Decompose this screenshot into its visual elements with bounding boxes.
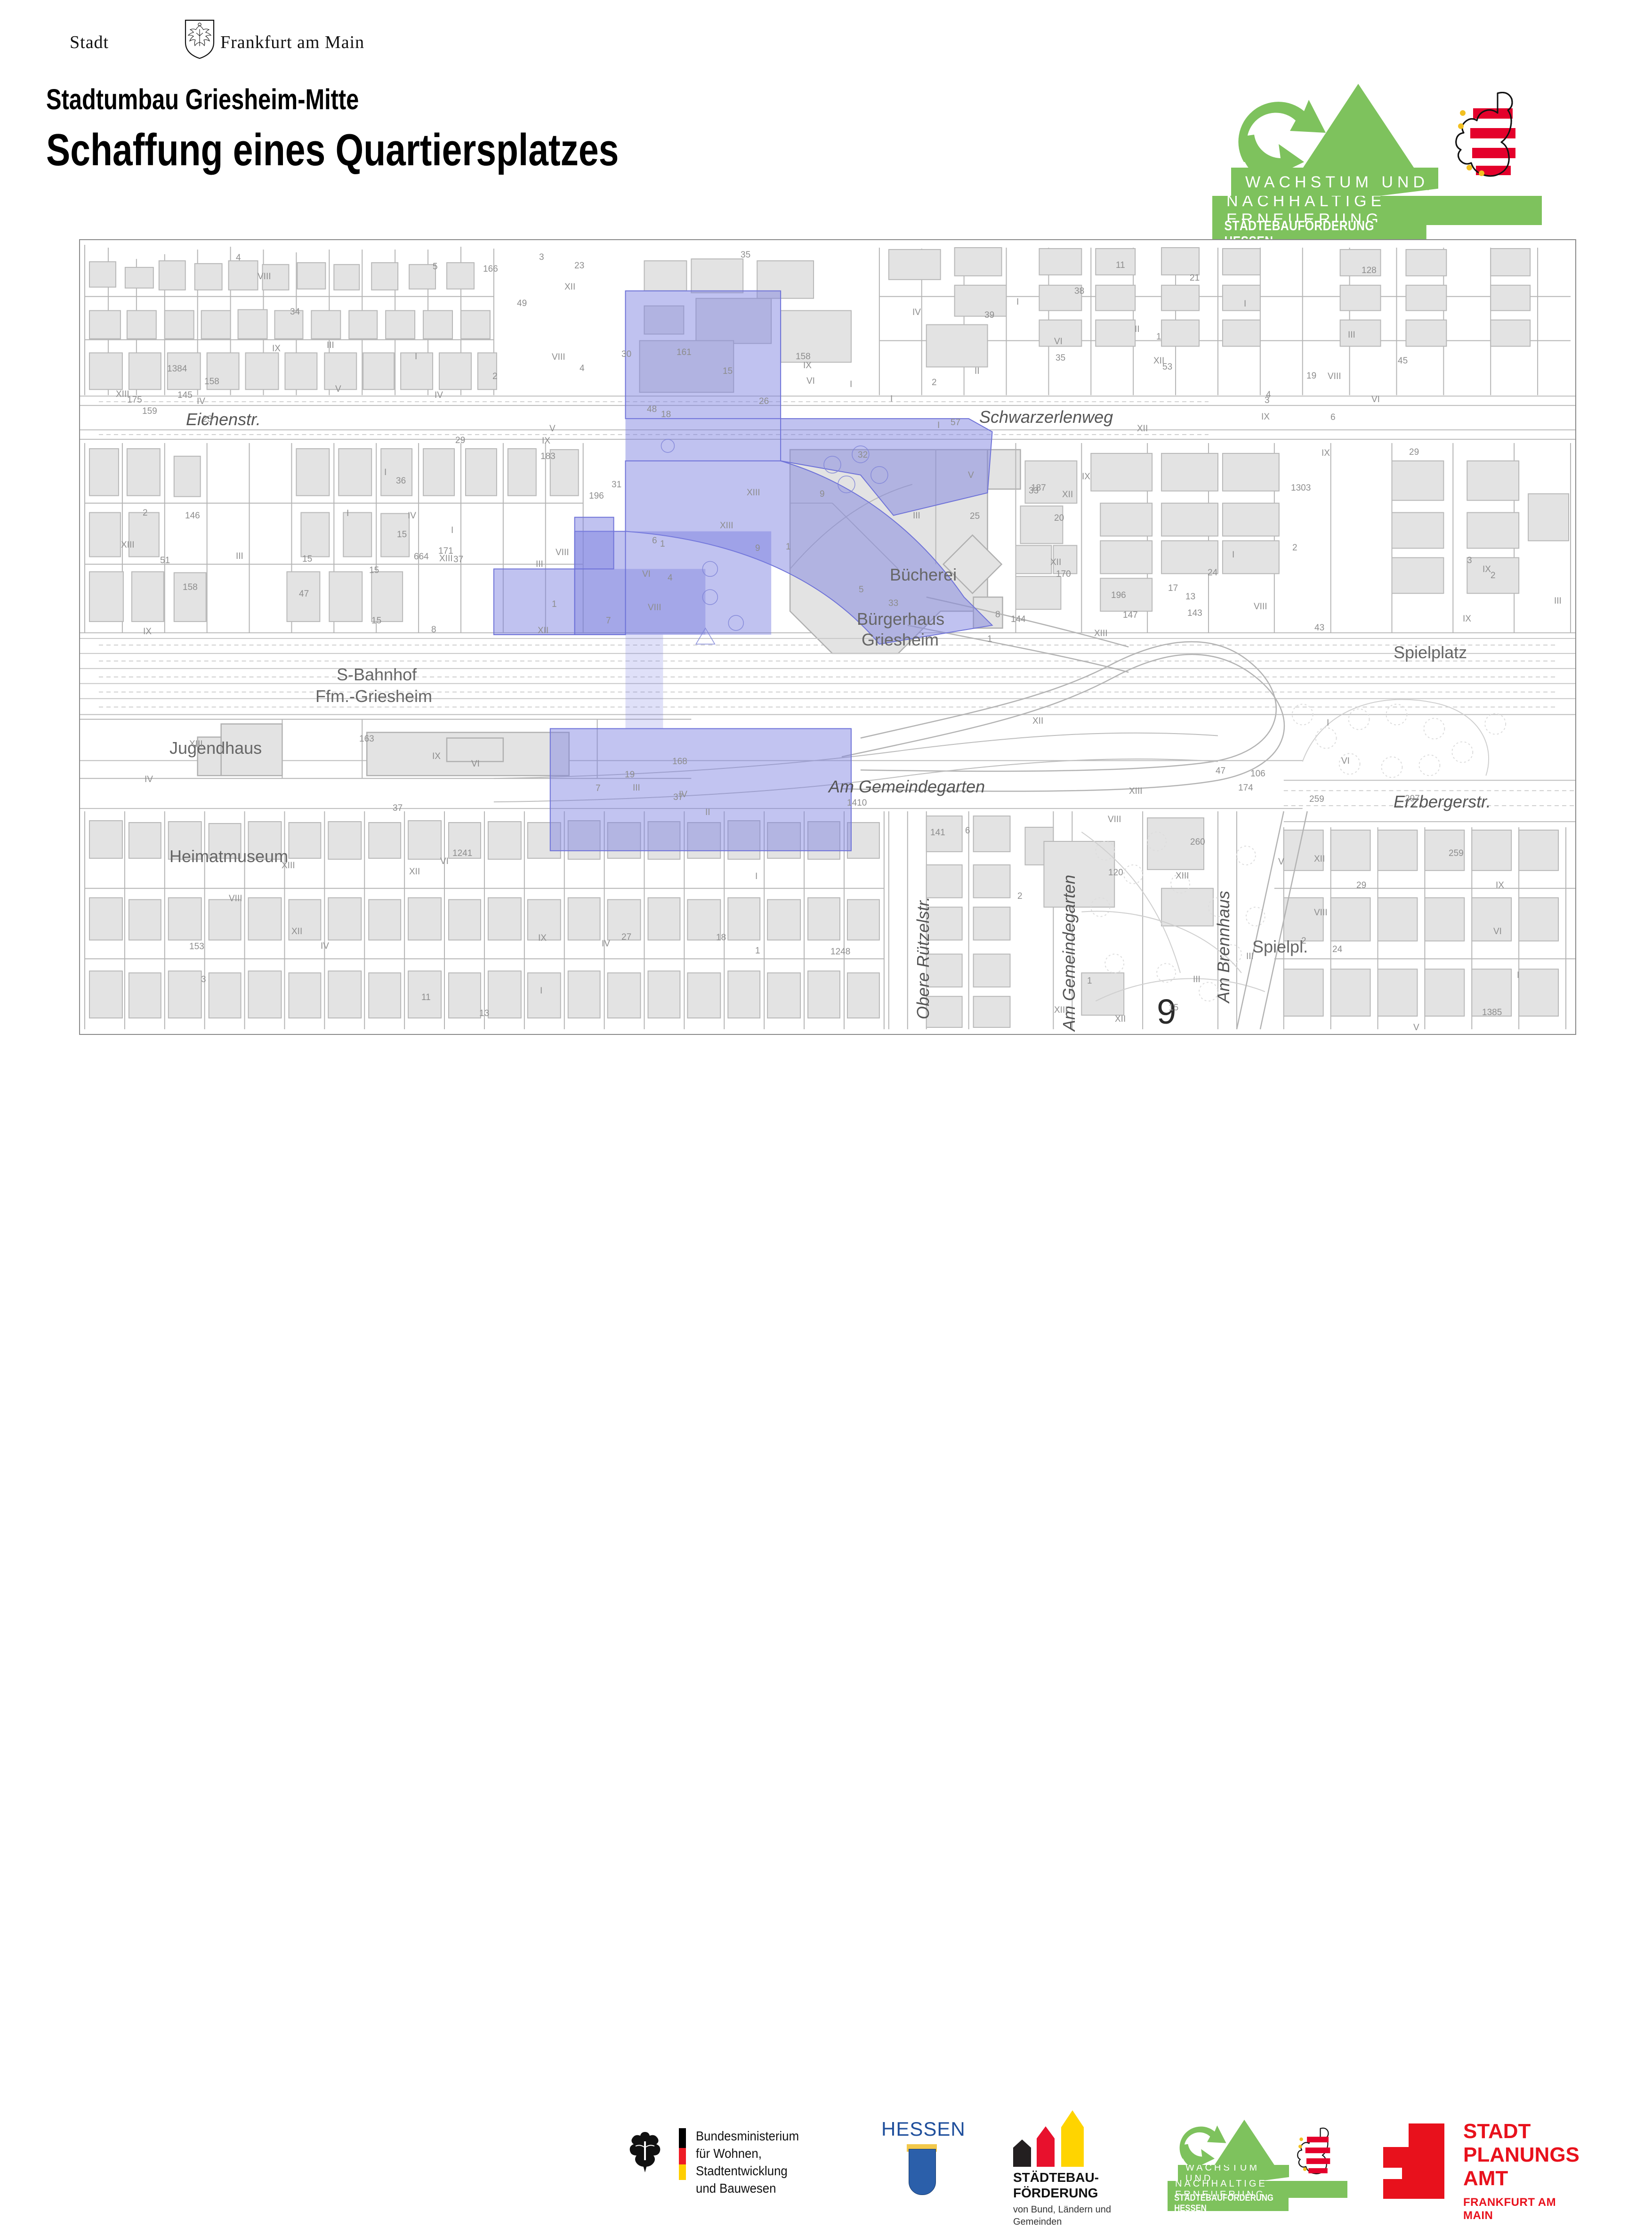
eagle-crest-icon — [184, 19, 215, 59]
parcel-number: 5 — [859, 585, 864, 595]
parcel-number: 161 — [677, 347, 692, 358]
program2-band-line3: STÄDTEBAUFÖRDERUNG HESSEN — [1168, 2196, 1289, 2211]
floor-count: XIII — [1129, 786, 1143, 797]
parcel-number: 166 — [483, 264, 498, 274]
parcel-number: 23 — [202, 414, 212, 425]
hessen-shield-icon — [909, 2149, 936, 2195]
parcel-number: 24 — [1332, 944, 1342, 955]
parcel-number: 24 — [1208, 568, 1217, 578]
floor-count: I — [850, 379, 852, 390]
map-drawing: 9 — [80, 240, 1575, 1034]
floor-count: I — [1232, 550, 1234, 560]
parcel-number: 146 — [185, 511, 200, 521]
parcel-number: 1 — [1156, 332, 1161, 342]
floor-count: VI — [471, 759, 480, 769]
floor-count: XIII — [439, 554, 453, 564]
street-label-am-brennhaus: Am Brennhaus — [1214, 891, 1233, 1003]
parcel-number: 2 — [1301, 936, 1306, 946]
floor-count: I — [451, 525, 453, 536]
stadtplanungsamt-mark-icon — [1375, 2123, 1444, 2199]
floor-count: III — [1246, 952, 1254, 962]
hessen-lion-icon — [1296, 2125, 1334, 2174]
parcel-number: 141 — [930, 828, 945, 838]
parcel-number: 3 — [201, 975, 206, 985]
parcel-number: 6 — [965, 826, 970, 836]
parcel-number: 1 — [660, 539, 665, 549]
floor-count: IX — [1463, 614, 1471, 624]
bmwsb-line1: Bundesministerium — [696, 2127, 835, 2145]
parcel-number: 196 — [1111, 590, 1126, 601]
footer-logo-bar: Bundesministerium für Wohnen, Stadtentwi… — [0, 1050, 1652, 1168]
parcel-number: 6 — [652, 536, 657, 546]
program-logo-footer: WACHSTUM UND NACHHALTIGE ERNEUERUNG STÄD… — [1168, 2120, 1365, 2202]
parcel-number: 37 — [393, 803, 403, 814]
parcel-number: 2 — [1491, 571, 1496, 581]
parcel-number: 15 — [397, 530, 407, 540]
parcel-number: 57 — [951, 418, 960, 428]
parcel-number: 4 — [1266, 390, 1271, 400]
program2-band-line2: NACHHALTIGE ERNEUERUNG — [1168, 2181, 1347, 2198]
house-yellow-icon — [1061, 2110, 1084, 2167]
parcel-number: 2 — [1017, 891, 1023, 902]
parcel-number: 51 — [160, 556, 170, 566]
parcel-number: 23 — [574, 261, 584, 271]
floor-count: IV — [321, 941, 329, 952]
street-label-obere-ruetzelstr: Obere Rützelstr. — [913, 896, 933, 1019]
floor-count: XIII — [720, 521, 733, 531]
parcel-number: 13 — [1185, 592, 1195, 602]
floor-count: XIII — [747, 488, 760, 498]
floor-count: II — [705, 807, 710, 818]
floor-count: IX — [538, 933, 547, 944]
floor-count: I — [937, 420, 940, 431]
city-logo-word-stadt: Stadt — [70, 32, 109, 52]
parcel-number: 43 — [1314, 623, 1324, 633]
house-black-icon — [1013, 2139, 1031, 2167]
parcel-number: 158 — [204, 377, 219, 387]
floor-count: III — [1193, 975, 1201, 985]
floor-count: XII — [1062, 490, 1073, 500]
floor-count: III — [327, 340, 334, 351]
street-label-schwarzerlenweg: Schwarzerlenweg — [979, 407, 1113, 427]
parcel-number: 4 — [580, 363, 585, 374]
parcel-number: 13 — [479, 1009, 489, 1019]
stadtplanungsamt-logo: STADT PLANUNGS AMT FRANKFURT AM MAIN — [1375, 2120, 1577, 2202]
floor-count: IV — [435, 390, 443, 401]
parcel-number: 175 — [127, 395, 142, 405]
floor-count: I — [1244, 299, 1246, 309]
page-subtitle: Stadtumbau Griesheim-Mitte — [46, 83, 619, 116]
parcel-number: 1385 — [1482, 1008, 1502, 1018]
poi-label-ffm-griesheim: Ffm.-Griesheim — [315, 686, 432, 706]
parcel-number: 2 — [492, 371, 498, 382]
parcel-number: 2 — [143, 508, 148, 518]
parcel-number: 25 — [970, 511, 980, 522]
floor-count: VI — [440, 856, 449, 867]
floor-count: XII — [538, 626, 548, 636]
floor-count: VIII — [1314, 908, 1328, 918]
parcel-number: 153 — [189, 942, 204, 952]
floor-count: VIII — [258, 272, 271, 282]
city-logo-word-frankfurt: Frankfurt am Main — [220, 32, 364, 52]
parcel-number: 29 — [1356, 880, 1366, 891]
sp-line2: PLANUNGS — [1463, 2143, 1579, 2167]
parcel-number: 106 — [1250, 769, 1265, 779]
staedtebau-line1: STÄDTEBAU- — [1013, 2170, 1099, 2185]
floor-count: I — [1327, 718, 1329, 728]
parcel-number: 1410 — [847, 798, 867, 808]
parcel-number: 7 — [596, 783, 601, 794]
sp-line1: STADT — [1463, 2120, 1579, 2143]
parcel-number: 31 — [612, 480, 621, 490]
floor-count: VIII — [1254, 602, 1267, 612]
floor-count: IX — [143, 627, 152, 637]
floor-count: III — [1554, 596, 1562, 606]
parcel-number: 35 — [1056, 353, 1065, 363]
parcel-number: 49 — [517, 299, 527, 309]
parcel-number: 9 — [820, 489, 825, 500]
sp-sub: FRANKFURT AM MAIN — [1463, 2196, 1579, 2222]
parcel-number: 1 — [1087, 976, 1092, 986]
federal-eagle-icon — [626, 2130, 664, 2175]
parcel-number: 20 — [1054, 513, 1064, 524]
parcel-number: 15 — [369, 565, 379, 576]
poi-label-jugendhaus: Jugendhaus — [169, 738, 262, 758]
parcel-number: 259 — [1309, 794, 1324, 805]
parcel-number: 27 — [621, 932, 631, 943]
program-logo-header: WACHSTUM UND NACHHALTIGE ERNEUERUNG STÄD… — [1208, 79, 1579, 239]
floor-count: VI — [642, 569, 651, 580]
floor-count: VIII — [556, 548, 569, 558]
floor-count: IV — [145, 775, 153, 785]
floor-count: IX — [1496, 880, 1504, 891]
city-of-frankfurt-logo: Stadt Frankfurt am Main — [70, 24, 371, 54]
parcel-number: 163 — [359, 734, 374, 744]
parcel-number: 260 — [1190, 837, 1205, 848]
floor-count: XIII — [1094, 629, 1108, 639]
floor-count: XIII — [189, 739, 203, 750]
parcel-number: 15 — [723, 366, 733, 377]
floor-count: III — [236, 551, 243, 562]
parcel-number: 33 — [888, 598, 898, 609]
parcel-number: 34 — [290, 307, 300, 317]
floor-count: III — [633, 783, 640, 793]
program-band-line1: WACHSTUM UND — [1231, 168, 1438, 197]
parcel-number: 120 — [1108, 868, 1123, 878]
floor-count: III — [1348, 330, 1355, 340]
floor-count: XIII — [282, 861, 295, 871]
floor-count: II — [975, 366, 980, 377]
parcel-number: 36 — [396, 476, 406, 486]
parcel-number: 5 — [433, 262, 438, 272]
floor-count: XII — [291, 927, 302, 937]
parcel-number: 1303 — [1291, 483, 1311, 493]
hessen-logo: HESSEN — [879, 2118, 964, 2199]
parcel-number: 143 — [1187, 608, 1202, 619]
parcel-number: 2 — [1292, 543, 1297, 553]
staedtebau-sub: von Bund, Ländern und Gemeinden — [1013, 2204, 1111, 2228]
sp-line3: AMT — [1463, 2167, 1579, 2190]
parcel-number: 37 — [453, 555, 463, 565]
parcel-number: 128 — [1362, 266, 1377, 276]
parcel-number: 664 — [414, 552, 429, 562]
hessen-label: HESSEN — [881, 2118, 966, 2140]
parcel-number: 6 — [1330, 412, 1336, 423]
poi-label-s-bahnhof: S-Bahnhof — [337, 665, 417, 685]
parcel-number: 2 — [932, 378, 937, 388]
parcel-number: 45 — [1398, 356, 1408, 366]
program2-band-line1: WACHSTUM UND — [1178, 2165, 1289, 2182]
floor-count: V — [549, 424, 556, 434]
poi-label-spielplatz: Spielplatz — [1394, 643, 1467, 662]
parcel-number: 11 — [1116, 260, 1125, 271]
floor-count: VIII — [648, 603, 661, 613]
floor-count: XII — [1050, 557, 1061, 568]
parcel-number: 39 — [984, 310, 994, 321]
floor-count: VI — [806, 376, 815, 387]
bmwsb-logo: Bundesministerium für Wohnen, Stadtentwi… — [626, 2124, 847, 2185]
floor-count: III — [536, 559, 543, 570]
page-title: Schaffung eines Quartiersplatzes — [46, 124, 619, 176]
floor-count: IV — [679, 790, 687, 800]
parcel-number: 183 — [540, 452, 556, 462]
parcel-number: 26 — [759, 396, 769, 407]
parcel-number: 3 — [539, 252, 544, 263]
parcel-number: 158 — [183, 582, 198, 593]
floor-count: III — [913, 511, 920, 521]
parcel-number: 32 — [858, 450, 868, 460]
staedtebau-sub1: von Bund, Ländern und — [1013, 2204, 1111, 2216]
floor-count: VI — [1493, 927, 1502, 937]
floor-count: XIII — [121, 540, 135, 550]
cadastral-map[interactable]: 9 Eichenstr. Schwarzerlenweg Am Gemeinde… — [79, 239, 1576, 1035]
floor-count: V — [968, 470, 974, 481]
german-flag-bar-icon — [679, 2128, 686, 2180]
floor-count: I — [890, 394, 893, 404]
title-block: Stadtumbau Griesheim-Mitte Schaffung ein… — [46, 83, 762, 176]
floor-count: XII — [1032, 716, 1043, 727]
street-label-am-gemeindegarten: Am Gemeindegarten — [829, 777, 985, 797]
floor-count: IX — [542, 436, 550, 446]
parcel-number: 18 — [661, 410, 671, 420]
poi-label-spielpl: Spielpl. — [1252, 937, 1308, 957]
parcel-number: 1241 — [452, 848, 472, 859]
hessen-lion-icon — [1452, 88, 1523, 177]
parcel-number: 1384 — [167, 364, 187, 374]
floor-count: V — [1413, 1023, 1419, 1033]
floor-count: VIII — [1108, 815, 1121, 825]
stadtplanungsamt-text: STADT PLANUNGS AMT FRANKFURT AM MAIN — [1463, 2120, 1579, 2222]
floor-count: IX — [272, 344, 281, 354]
parcel-number: 19 — [1306, 371, 1316, 381]
floor-count: I — [384, 468, 387, 478]
parcel-number: 145 — [177, 390, 193, 401]
parcel-number: 196 — [589, 491, 604, 501]
parcel-number: 15 — [1168, 1003, 1178, 1013]
bmwsb-text: Bundesministerium für Wohnen, Stadtentwi… — [696, 2127, 835, 2197]
bmwsb-line3: und Bauwesen — [696, 2180, 835, 2197]
floor-count: XIII — [116, 389, 129, 400]
parcel-number: 35 — [741, 250, 750, 260]
floor-count: VIII — [229, 894, 242, 904]
parcel-number: 297 — [1405, 794, 1420, 804]
parcel-number: 29 — [455, 436, 465, 446]
floor-count: XII — [1137, 424, 1148, 434]
floor-count: XII — [1314, 854, 1325, 864]
parcel-number: 168 — [672, 757, 687, 767]
parcel-number: 1 — [987, 634, 992, 645]
floor-count: I — [540, 986, 542, 996]
floor-count: IX — [1322, 448, 1330, 459]
parcel-number: 15 — [302, 554, 312, 565]
floor-count: IX — [803, 361, 812, 371]
parcel-number: 1 — [552, 599, 557, 610]
parcel-number: 15 — [371, 616, 381, 626]
floor-count: IX — [1082, 472, 1090, 482]
parcel-number: 21 — [1190, 273, 1200, 283]
floor-count: IV — [197, 396, 205, 407]
house-red-icon — [1037, 2126, 1055, 2167]
poi-label-griesheim: Griesheim — [862, 630, 939, 650]
floor-count: VIII — [552, 352, 565, 363]
parcel-number: 187 — [1031, 483, 1046, 493]
staedtebau-title: STÄDTEBAU- FÖRDERUNG — [1013, 2170, 1099, 2201]
floor-count: IX — [1483, 565, 1491, 575]
parcel-number: 8 — [995, 610, 1000, 620]
poi-label-heimatmuseum: Heimatmuseum — [169, 847, 288, 866]
parcel-number: 48 — [647, 404, 657, 415]
parcel-number: 1 — [755, 946, 760, 956]
floor-count: V — [335, 384, 341, 395]
floor-count: II — [1135, 324, 1140, 335]
floor-count: I — [1016, 297, 1019, 307]
floor-count: XIII — [1176, 871, 1189, 881]
floor-count: XII — [409, 867, 420, 877]
parcel-number: 170 — [1056, 569, 1071, 580]
parcel-number: 18 — [716, 933, 726, 943]
floor-count: IX — [432, 751, 441, 762]
parcel-number: 11 — [421, 993, 431, 1003]
page-header: Stadt Frankfurt am Main Stadtumbau Gries… — [0, 0, 1652, 231]
floor-count: IV — [602, 939, 610, 949]
parcel-number: 9 — [755, 543, 760, 554]
parcel-number: 47 — [1216, 766, 1225, 776]
bmwsb-line2: für Wohnen, Stadtentwicklung — [696, 2145, 835, 2180]
poi-label-buergerhaus: Bürgerhaus — [857, 609, 944, 629]
parcel-number: 144 — [1011, 614, 1026, 625]
parcel-number: 19 — [625, 770, 635, 780]
parcel-number: 174 — [1238, 783, 1253, 793]
floor-count: I — [415, 352, 417, 362]
floor-count: I — [347, 509, 349, 519]
floor-count: XIII — [1054, 1005, 1068, 1016]
parcel-number: 259 — [1449, 848, 1464, 859]
parcel-number: 8 — [431, 625, 436, 635]
parcel-number: 38 — [1074, 286, 1084, 297]
floor-count: I — [1517, 970, 1519, 981]
floor-count: XII — [1153, 356, 1164, 366]
street-label-eichenstr: Eichenstr. — [186, 410, 261, 429]
parcel-number: 147 — [1123, 610, 1138, 621]
floor-count: VI — [1341, 756, 1350, 767]
staedtebau-line2: FÖRDERUNG — [1013, 2185, 1099, 2201]
parcel-number: 30 — [621, 349, 631, 360]
parcel-number: 17 — [1168, 583, 1178, 594]
staedtebau-sub2: Gemeinden — [1013, 2216, 1111, 2228]
parcel-number: 4 — [236, 253, 241, 263]
parcel-number: 7 — [606, 616, 611, 626]
floor-count: XII — [564, 282, 575, 292]
parcel-number: 47 — [299, 589, 309, 599]
parcel-number: 4 — [668, 573, 673, 583]
floor-count: IX — [1261, 412, 1270, 422]
parcel-number: 159 — [142, 406, 157, 417]
floor-count: VIII — [1328, 371, 1341, 382]
staedtebaufoerderung-logo: STÄDTEBAU- FÖRDERUNG von Bund, Ländern u… — [1012, 2124, 1135, 2200]
floor-count: XII — [1115, 1014, 1126, 1025]
parcel-number: 1248 — [830, 947, 850, 957]
floor-count: IV — [912, 307, 921, 318]
floor-count: I — [755, 872, 758, 882]
poi-label-buecherei: Bücherei — [890, 565, 957, 585]
floor-count: IV — [408, 511, 416, 521]
floor-count: VI — [1371, 395, 1380, 405]
floor-count: V — [1278, 857, 1284, 867]
parcel-number: 3 — [1467, 556, 1472, 566]
floor-count: VI — [1054, 337, 1063, 347]
parcel-number: 1 — [786, 542, 791, 552]
parcel-number: 29 — [1409, 447, 1419, 458]
